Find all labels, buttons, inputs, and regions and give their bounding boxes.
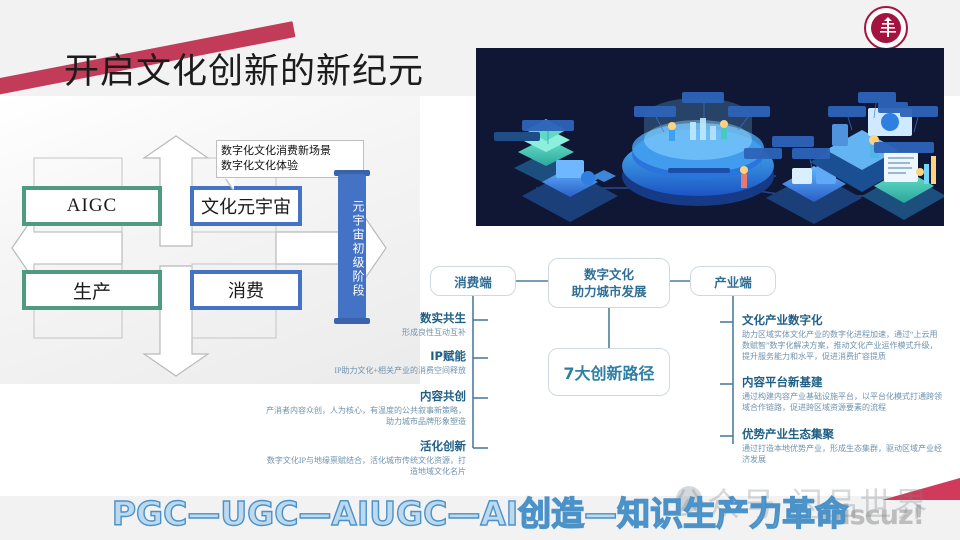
right-branch-1-desc: 助力区域实体文化产业的数字化进程加速，通过“上云用数赋智”数字化解决方案，推动文… bbox=[742, 329, 942, 362]
callout-tail bbox=[226, 178, 234, 190]
right-branch-1: 文化产业数字化 助力区域实体文化产业的数字化进程加速，通过“上云用数赋智”数字化… bbox=[742, 312, 942, 362]
right-branch-3-desc: 通过打造本地优势产业，形成生态集群，驱动区域产业经济发展 bbox=[742, 443, 942, 465]
tech-illustration bbox=[476, 48, 944, 226]
left-branch-4-title: 活化创新 bbox=[266, 438, 466, 454]
bottom-banner-text: PGC—UGC—AIUGC—AI创造—知识生产力革命 bbox=[0, 492, 960, 536]
center-line-2: 助力城市发展 bbox=[571, 283, 646, 300]
left-branch-1-title: 数实共生 bbox=[266, 310, 466, 326]
right-branch-2-title: 内容平台新基建 bbox=[742, 374, 942, 390]
university-seal-icon bbox=[864, 6, 908, 50]
diagram-box-production: 生产 bbox=[22, 270, 162, 310]
right-branch-1-title: 文化产业数字化 bbox=[742, 312, 942, 328]
digital-culture-mindmap: 数字文化 助力城市发展 7大创新路径 消费端 产业端 数实共生 形成良性互动互补… bbox=[276, 248, 960, 492]
left-branch-2-title: IP赋能 bbox=[266, 348, 466, 364]
left-branch-2: IP赋能 IP助力文化+相关产业的消费空间释放 bbox=[266, 348, 466, 376]
callout-line-1: 数字化文化消费新场景 bbox=[221, 144, 359, 159]
slide-canvas: 开启文化创新的新纪元 AIGC 生产 文化元宇宙 消费 bbox=[0, 0, 960, 540]
page-title: 开启文化创新的新纪元 bbox=[64, 55, 424, 90]
isometric-data-platform-image bbox=[476, 48, 944, 226]
left-branch-4-desc: 数字文化IP与地缘禀赋结合，活化城市传统文化资源，打造地域文化名片 bbox=[266, 455, 466, 477]
mindmap-center-node: 数字文化 助力城市发展 bbox=[548, 258, 670, 308]
mindmap-paths-node: 7大创新路径 bbox=[548, 348, 670, 396]
mindmap-consumer-node: 消费端 bbox=[430, 266, 516, 296]
diagram-box-culture-metaverse: 文化元宇宙 bbox=[190, 186, 302, 226]
right-branch-3: 优势产业生态集聚 通过打造本地优势产业，形成生态集群，驱动区域产业经济发展 bbox=[742, 426, 942, 465]
left-branch-3: 内容共创 产消者内容众创，人为核心，有温度的公共叙事新策略，助力城市品牌形象塑造 bbox=[266, 388, 466, 427]
left-branch-1: 数实共生 形成良性互动互补 bbox=[266, 310, 466, 338]
left-branch-4: 活化创新 数字文化IP与地缘禀赋结合，活化城市传统文化资源，打造地域文化名片 bbox=[266, 438, 466, 477]
left-branch-1-desc: 形成良性互动互补 bbox=[266, 327, 466, 338]
left-branch-3-desc: 产消者内容众创，人为核心，有温度的公共叙事新策略，助力城市品牌形象塑造 bbox=[266, 405, 466, 427]
right-branch-2: 内容平台新基建 通过构建内容产业基础设施平台，以平台化模式打通跨领域合作链路，促… bbox=[742, 374, 942, 413]
left-branch-2-desc: IP助力文化+相关产业的消费空间释放 bbox=[266, 365, 466, 376]
left-branch-3-title: 内容共创 bbox=[266, 388, 466, 404]
seal-tree-glyph bbox=[878, 17, 898, 39]
right-branch-3-title: 优势产业生态集聚 bbox=[742, 426, 942, 442]
right-branch-2-desc: 通过构建内容产业基础设施平台，以平台化模式打通跨领域合作链路，促进跨区域资源要素… bbox=[742, 391, 942, 413]
center-line-1: 数字文化 bbox=[584, 266, 634, 283]
mindmap-industry-node: 产业端 bbox=[690, 266, 776, 296]
diagram-box-aigc: AIGC bbox=[22, 186, 162, 226]
